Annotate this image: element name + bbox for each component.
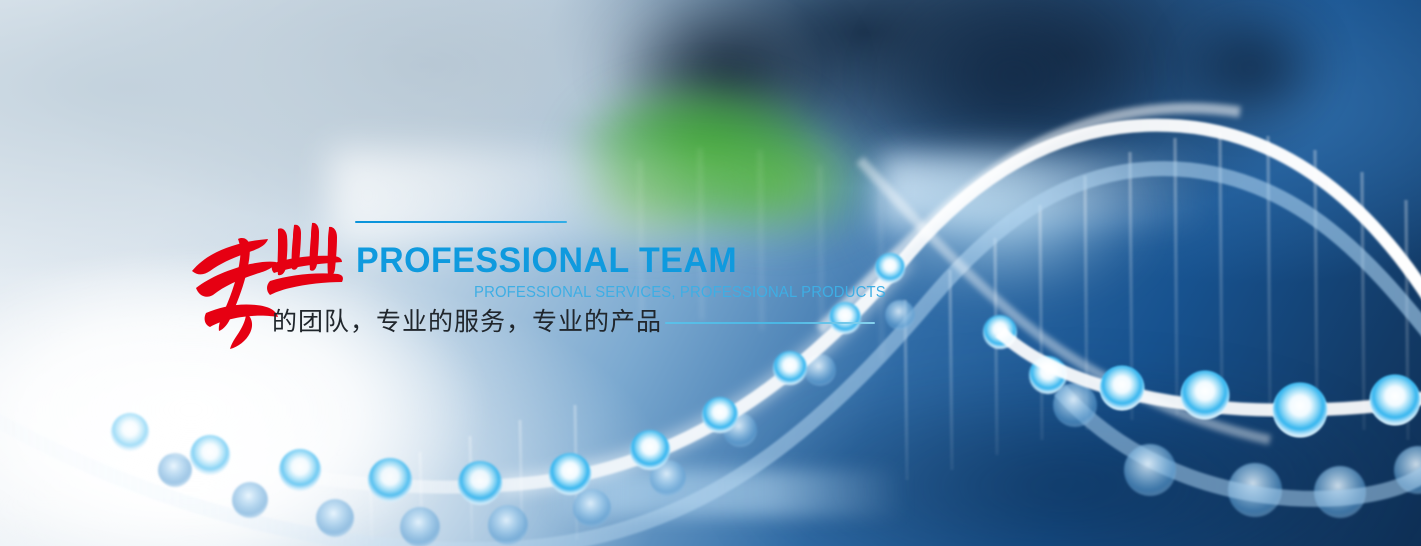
decorative-rule-bottom (665, 322, 875, 324)
professional-team-banner: PROFESSIONAL TEAM PROFESSIONAL SERVICES,… (0, 0, 1421, 546)
page-title: PROFESSIONAL TEAM (356, 243, 737, 278)
page-tagline: 的团队，专业的服务，专业的产品 (272, 306, 662, 339)
decorative-rule-top (355, 221, 567, 223)
page-subtitle: PROFESSIONAL SERVICES, PROFESSIONAL PROD… (474, 285, 886, 301)
